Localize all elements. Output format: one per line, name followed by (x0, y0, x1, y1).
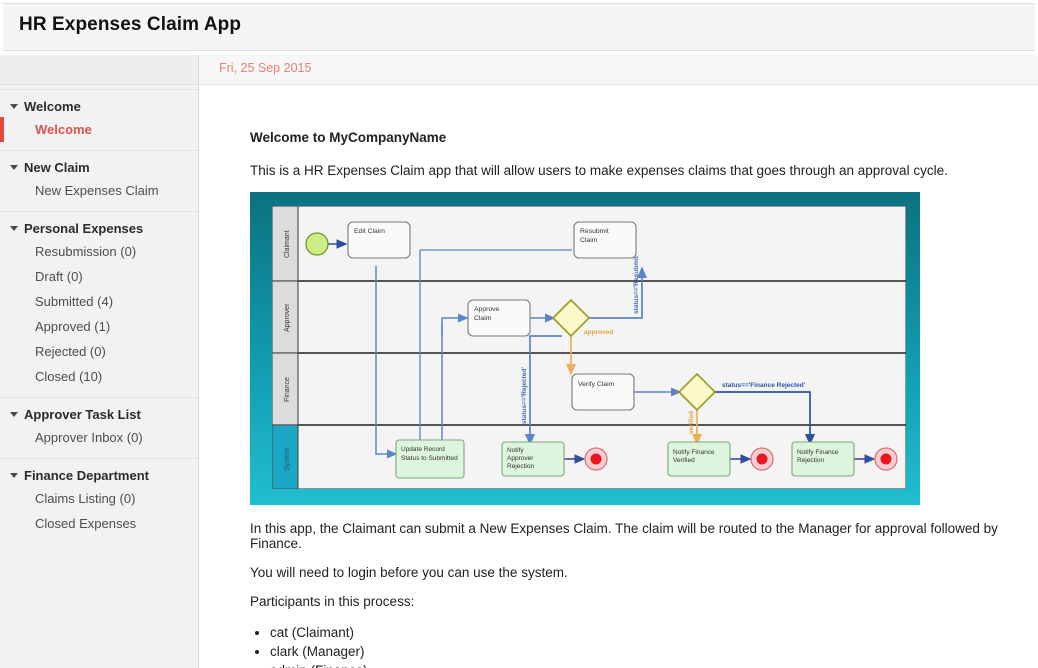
sidebar-group-label: Finance Department (24, 468, 149, 483)
sidebar-item[interactable]: Closed Expenses (0, 511, 198, 536)
flow-label-rejected: status=='Rejected' (521, 367, 528, 424)
sidebar-item[interactable]: Resubmission (0) (0, 239, 198, 264)
sidebar-item[interactable]: Rejected (0) (0, 339, 198, 364)
page-title: HR Expenses Claim App (19, 14, 241, 36)
sidebar-group-header[interactable]: Finance Department (0, 465, 198, 486)
svg-text:Resubmit: Resubmit (580, 228, 609, 235)
routing-paragraph: In this app, the Claimant can submit a N… (250, 521, 1038, 551)
svg-text:Claim: Claim (580, 237, 598, 244)
svg-text:Verify Claim: Verify Claim (578, 381, 615, 388)
participants-label: Participants in this process: (250, 594, 1038, 609)
date-bar: Fri, 25 Sep 2015 (199, 55, 1038, 85)
flow-label-approved: approved (584, 329, 613, 336)
bpmn-task-update-record: Update Record Status to Submitted (396, 440, 464, 478)
app-root: HR Expenses Claim App Fri, 25 Sep 2015 W… (0, 0, 1038, 668)
flow-label-finance-rejected: status=='Finance Rejected' (722, 382, 806, 389)
app-header: HR Expenses Claim App (3, 3, 1035, 51)
bpmn-process-diagram: Claimant Approver Finance System (250, 192, 920, 505)
bpmn-end-event-finance-verified (751, 448, 773, 470)
sidebar-group-label: Approver Task List (24, 407, 141, 422)
login-paragraph: You will need to login before you can us… (250, 565, 1038, 580)
intro-paragraph: This is a HR Expenses Claim app that wil… (250, 163, 1038, 178)
svg-text:Notify: Notify (507, 447, 524, 454)
sidebar-group-header[interactable]: Personal Expenses (0, 218, 198, 239)
list-item: cat (Claimant) (270, 623, 1038, 642)
sidebar-item[interactable]: Approved (1) (0, 314, 198, 339)
bpmn-end-event-finance-rejection (875, 448, 897, 470)
sidebar-item[interactable]: Welcome (0, 117, 198, 142)
chevron-down-icon (10, 473, 18, 478)
sidebar-item[interactable]: New Expenses Claim (0, 178, 198, 203)
sidebar-group: Approver Task ListApprover Inbox (0) (0, 397, 198, 458)
svg-text:Notify Finance: Notify Finance (673, 449, 715, 456)
svg-text:Edit Claim: Edit Claim (354, 228, 385, 235)
svg-text:Approver: Approver (507, 455, 534, 462)
bpmn-start-event (306, 233, 328, 255)
sidebar-group: Finance DepartmentClaims Listing (0)Clos… (0, 458, 198, 544)
participants-list: cat (Claimant)clark (Manager)admin (Fina… (250, 623, 1038, 668)
sidebar-top-spacer (0, 55, 199, 85)
svg-text:Verified: Verified (673, 457, 695, 464)
sidebar-item[interactable]: Draft (0) (0, 264, 198, 289)
svg-text:Claim: Claim (474, 315, 492, 322)
sidebar-group: New ClaimNew Expenses Claim (0, 150, 198, 211)
svg-text:Status to Submitted: Status to Submitted (401, 455, 458, 462)
sidebar-item[interactable]: Approver Inbox (0) (0, 425, 198, 450)
lane-label-claimant: Claimant (284, 230, 291, 258)
sidebar-item[interactable]: Submitted (4) (0, 289, 198, 314)
sidebar-group-label: New Claim (24, 160, 90, 175)
sidebar-group-header[interactable]: Approver Task List (0, 404, 198, 425)
list-item: admin (Finance) (270, 661, 1038, 668)
svg-text:Update Record: Update Record (401, 446, 445, 453)
bpmn-task-notify-finance-verified: Notify Finance Verified (668, 442, 730, 476)
bpmn-task-notify-finance-rejection: Notify Finance Rejection (792, 442, 854, 476)
svg-text:Approve: Approve (474, 306, 500, 313)
flow-label-resubmit: status=='Resubmit' (633, 254, 640, 314)
list-item: clark (Manager) (270, 642, 1038, 661)
sidebar-group: WelcomeWelcome (0, 89, 198, 150)
sidebar-group: Personal ExpensesResubmission (0)Draft (… (0, 211, 198, 397)
bpmn-task-resubmit-claim: Resubmit Claim (574, 222, 636, 258)
svg-text:Rejection: Rejection (507, 463, 534, 470)
chevron-down-icon (10, 412, 18, 417)
bpmn-task-approve-claim: Approve Claim (468, 300, 530, 336)
bpmn-task-verify-claim: Verify Claim (572, 374, 634, 410)
sidebar-item[interactable]: Claims Listing (0) (0, 486, 198, 511)
sidebar-item[interactable]: Closed (10) (0, 364, 198, 389)
svg-text:Rejection: Rejection (797, 457, 824, 464)
bpmn-end-event-approver-rejection (585, 448, 607, 470)
svg-text:Notify Finance: Notify Finance (797, 449, 839, 456)
sidebar-group-header[interactable]: New Claim (0, 157, 198, 178)
sidebar-group-header[interactable]: Welcome (0, 96, 198, 117)
welcome-heading: Welcome to MyCompanyName (250, 130, 1038, 145)
main-content: Welcome to MyCompanyName This is a HR Ex… (200, 86, 1038, 668)
sidebar-group-label: Welcome (24, 99, 81, 114)
lane-label-approver: Approver (284, 303, 291, 332)
sidebar: WelcomeWelcomeNew ClaimNew Expenses Clai… (0, 85, 199, 668)
lane-label-finance: Finance (284, 377, 291, 402)
sidebar-group-label: Personal Expenses (24, 221, 143, 236)
bpmn-task-notify-approver-rejection: Notify Approver Rejection (502, 442, 564, 476)
chevron-down-icon (10, 165, 18, 170)
chevron-down-icon (10, 104, 18, 109)
current-date: Fri, 25 Sep 2015 (219, 61, 311, 75)
bpmn-svg: Claimant Approver Finance System (272, 206, 906, 489)
chevron-down-icon (10, 226, 18, 231)
flow-label-verified: verified (688, 411, 695, 434)
lane-label-system: System (284, 447, 291, 471)
bpmn-task-edit-claim: Edit Claim (348, 222, 410, 258)
